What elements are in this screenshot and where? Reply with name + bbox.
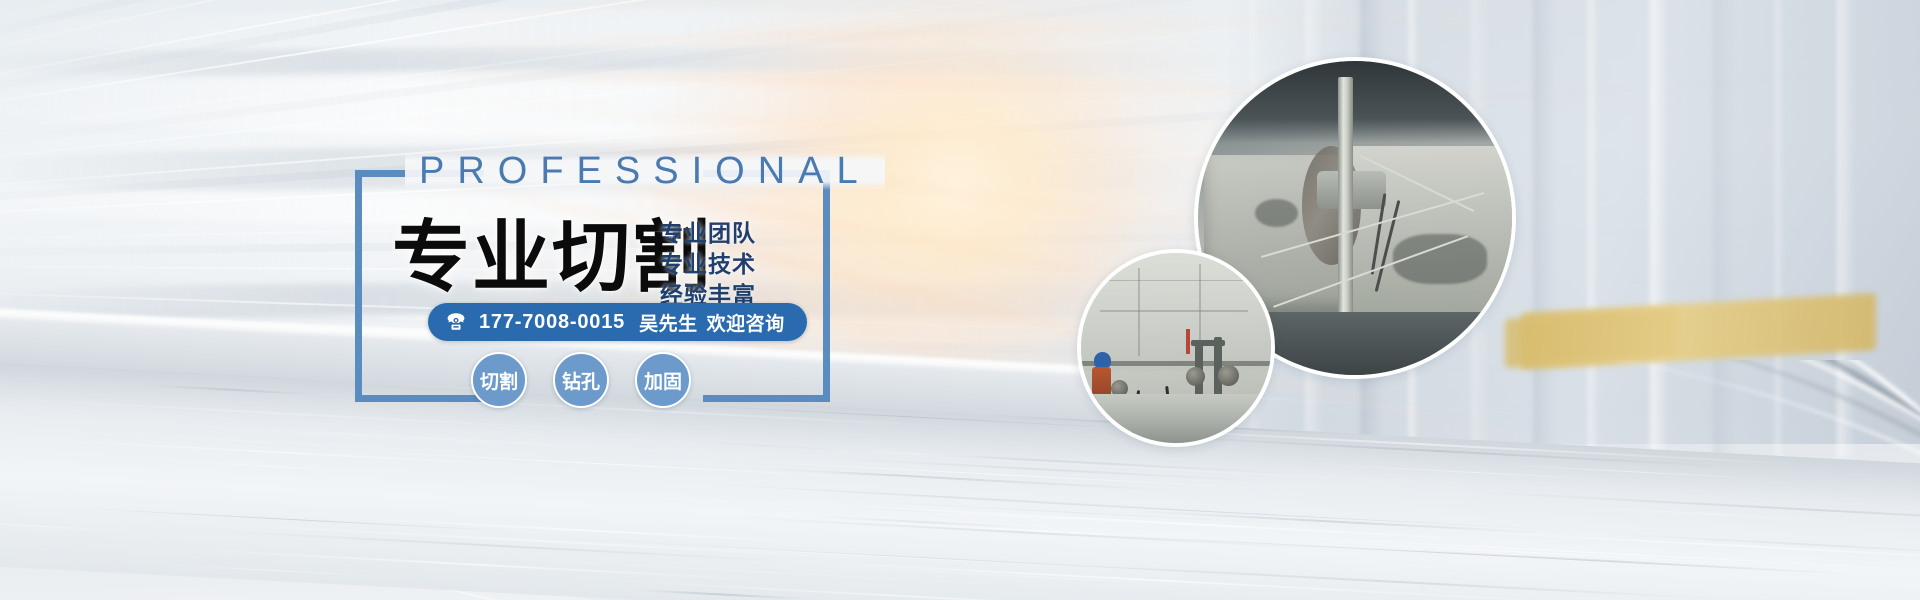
eyebrow-text: PROFESSIONAL [405,152,885,190]
service-chip-drilling[interactable]: 钻孔 [553,352,609,408]
contact-person: 吴先生 [639,309,698,336]
feature-item-1: 专业技术 [660,249,756,280]
contact-phone-bar[interactable]: 177-7008-0015 吴先生 欢迎咨询 [428,303,807,341]
feature-item-0: 专业团队 [660,218,756,249]
telephone-icon [444,310,468,334]
contact-cta: 欢迎咨询 [707,309,785,336]
service-chip-reinforcement[interactable]: 加固 [635,352,691,408]
photo-wire-saw-worker-on-site [1077,249,1275,447]
service-chip-list: 切割 钻孔 加固 [471,352,691,408]
banner-content: PROFESSIONAL 专业切割 专业团队 专业技术 经验丰富 177-700… [0,0,1920,600]
service-chip-cutting[interactable]: 切割 [471,352,527,408]
photo-worker-content [1081,253,1271,443]
feature-list: 专业团队 专业技术 经验丰富 [660,218,756,310]
promo-banner: PROFESSIONAL 专业切割 专业团队 专业技术 经验丰富 177-700… [0,0,1920,600]
phone-number: 177-7008-0015 [479,311,625,334]
